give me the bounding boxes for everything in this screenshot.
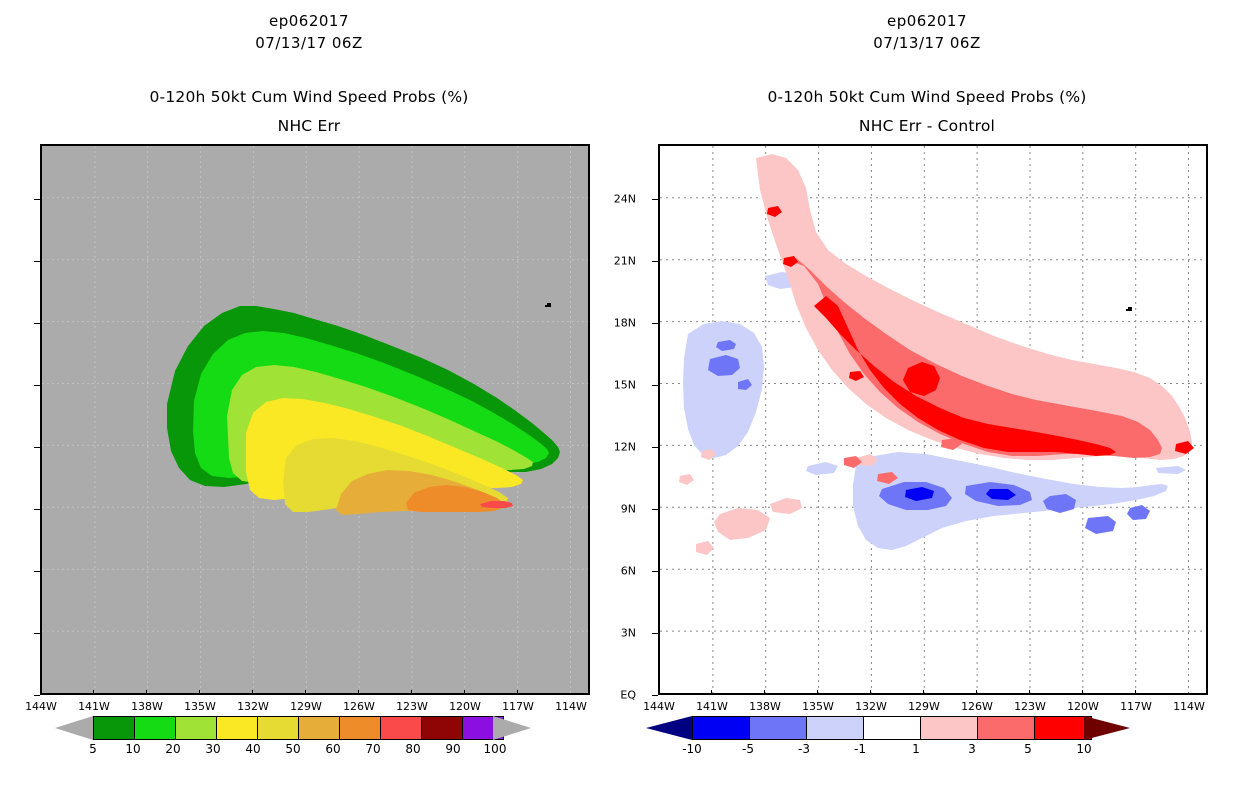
datetime-left: 07/13/17 06Z — [0, 34, 618, 52]
panel-subtitle-left: NHC Err — [0, 117, 618, 135]
panel-nhc-err: ep062017 07/13/17 06Z 0-120h 50kt Cum Wi… — [0, 0, 618, 800]
x-tick-label: 120W — [449, 700, 481, 713]
x-tick-label: 117W — [502, 700, 534, 713]
swatch-80 — [422, 717, 463, 739]
x-tick-label: 135W — [184, 700, 216, 713]
colorbar-tick: 60 — [325, 742, 340, 756]
x-tick-label: 126W — [961, 700, 993, 713]
x-tick-label: 117W — [1120, 700, 1152, 713]
x-tick-label: 138W — [749, 700, 781, 713]
colorbar-tick: -3 — [798, 742, 810, 756]
colorbar-difference: -10 -5 -3 -1 1 3 5 10 — [618, 716, 1236, 740]
colorbar-tick: 3 — [968, 742, 976, 756]
map-plot-left — [40, 144, 590, 695]
colorbar-tick: 20 — [165, 742, 180, 756]
swatch-5 — [94, 717, 135, 739]
colorbar-tick: -1 — [854, 742, 866, 756]
colorbar-tick: -10 — [682, 742, 702, 756]
colorbar-cap-low — [55, 716, 93, 740]
colorbar-tick: 10 — [1076, 742, 1091, 756]
swatch-neg5 — [750, 717, 807, 739]
colorbar-strip — [93, 716, 504, 740]
x-tick-label: 132W — [855, 700, 887, 713]
colorbar-tick: -5 — [742, 742, 754, 756]
swatch-60 — [340, 717, 381, 739]
x-tick-label: 129W — [908, 700, 940, 713]
storm-id-left: ep062017 — [0, 12, 618, 30]
x-tick-label: 135W — [802, 700, 834, 713]
x-tick-label: 129W — [290, 700, 322, 713]
colorbar-tick: 80 — [405, 742, 420, 756]
colorbar-cap-high — [493, 716, 531, 740]
colorbar-probability: 5 10 20 30 40 50 60 70 80 90 100 — [0, 716, 618, 740]
colorbar-tick: 90 — [445, 742, 460, 756]
storm-id-right: ep062017 — [618, 12, 1236, 30]
x-tick-label: 126W — [343, 700, 375, 713]
colorbar-tick: 100 — [484, 742, 507, 756]
y-tick-label: 3N — [621, 627, 636, 640]
swatch-pos3 — [978, 717, 1035, 739]
y-tick-label: EQ — [620, 689, 636, 702]
cursor-artifact-left — [547, 303, 551, 307]
swatch-neg10 — [693, 717, 750, 739]
colorbar-cap-low — [646, 716, 692, 740]
cursor-artifact-right — [1128, 307, 1132, 311]
swatch-10 — [135, 717, 176, 739]
colorbar-tick: 40 — [245, 742, 260, 756]
colorbar-tick: 10 — [125, 742, 140, 756]
y-tick-label: 9N — [621, 503, 636, 516]
datetime-right: 07/13/17 06Z — [618, 34, 1236, 52]
x-tick-label: 114W — [555, 700, 587, 713]
x-tick-label: 123W — [1014, 700, 1046, 713]
colorbar-tick: 70 — [365, 742, 380, 756]
panel-title-left: 0-120h 50kt Cum Wind Speed Probs (%) — [0, 88, 618, 106]
swatch-pos5 — [1035, 717, 1091, 739]
x-tick-label: 144W — [643, 700, 675, 713]
swatch-50 — [299, 717, 340, 739]
swatch-20 — [176, 717, 217, 739]
colorbar-cap-high — [1084, 716, 1130, 740]
y-tick-label: 15N — [614, 379, 636, 392]
swatch-30 — [217, 717, 258, 739]
colorbar-tick: 50 — [285, 742, 300, 756]
difference-contours — [660, 146, 1206, 693]
panel-nhc-err-minus-control: ep062017 07/13/17 06Z 0-120h 50kt Cum Wi… — [618, 0, 1236, 800]
swatch-70 — [381, 717, 422, 739]
x-tick-label: 141W — [78, 700, 110, 713]
y-tick-label: 18N — [614, 317, 636, 330]
colorbar-tick: 5 — [89, 742, 97, 756]
y-tick-label: 12N — [614, 441, 636, 454]
x-tick-label: 120W — [1067, 700, 1099, 713]
x-tick-label: 123W — [396, 700, 428, 713]
panel-title-right: 0-120h 50kt Cum Wind Speed Probs (%) — [618, 88, 1236, 106]
probability-contours — [42, 146, 588, 693]
map-plot-right — [658, 144, 1208, 695]
colorbar-tick: 30 — [205, 742, 220, 756]
swatch-neg1 — [864, 717, 921, 739]
x-tick-label: 144W — [25, 700, 57, 713]
swatch-pos1 — [921, 717, 978, 739]
y-tick-label: 6N — [621, 565, 636, 578]
swatch-neg3 — [807, 717, 864, 739]
y-tick-label: 21N — [614, 255, 636, 268]
x-tick-label: 114W — [1173, 700, 1205, 713]
swatch-40 — [258, 717, 299, 739]
panel-subtitle-right: NHC Err - Control — [618, 117, 1236, 135]
x-tick-label: 138W — [131, 700, 163, 713]
x-tick-label: 141W — [696, 700, 728, 713]
y-tick-label: 24N — [614, 193, 636, 206]
x-tick-label: 132W — [237, 700, 269, 713]
colorbar-strip — [692, 716, 1092, 740]
colorbar-tick: 1 — [912, 742, 920, 756]
colorbar-tick: 5 — [1024, 742, 1032, 756]
